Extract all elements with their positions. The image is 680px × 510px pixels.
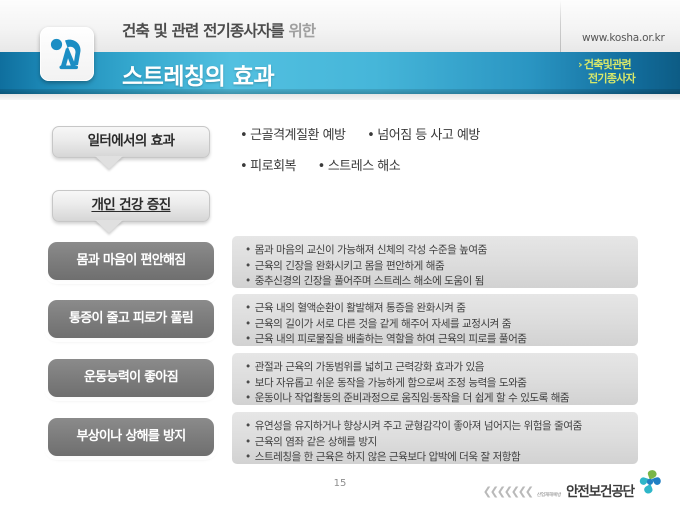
detail-line: •운동이나 작업활동의 준비과정으로 움직임·동작을 더 쉽게 할 수 있도록 … — [245, 391, 628, 407]
bullet-dot-icon: • — [367, 128, 374, 143]
top-bullet-list: •근골격계질환 예방 •넘어짐 등 사고 예방 •피로회복 •스트레스 해소 — [240, 124, 640, 186]
top-bullet-item: •넘어짐 등 사고 예방 — [367, 128, 480, 143]
bullet-dot-icon: • — [245, 333, 251, 345]
detail-text: 근육 내의 혈액순환이 활발해져 통증을 완화시켜 줌 — [255, 302, 466, 314]
effect-row-detail-panel: •몸과 마음의 교신이 가능해져 신체의 각성 수준을 높여줌 •근육의 긴장을… — [232, 236, 638, 288]
effect-row-detail-panel: •근육 내의 혈액순환이 활발해져 통증을 완화시켜 줌 •근육의 길이가 서로… — [232, 294, 638, 346]
breadcrumb-line-2: 전기종사자 — [578, 72, 635, 86]
bullet-dot-icon: • — [245, 302, 251, 314]
detail-line: •근육의 긴장을 완화시키고 몸을 편안하게 해줌 — [245, 259, 628, 275]
person-stretching-icon — [40, 27, 94, 81]
bullet-dot-icon: • — [245, 420, 251, 432]
top-bullet-line: •근골격계질환 예방 •넘어짐 등 사고 예방 — [240, 124, 640, 143]
detail-line: •보다 자유롭고 쉬운 동작을 가능하게 함으로써 조정 능력을 도와줌 — [245, 376, 628, 392]
detail-line: •몸과 마음의 교신이 가능해져 신체의 각성 수준을 높여줌 — [245, 243, 628, 259]
callout-workplace-effects: 일터에서의 효과 — [52, 126, 210, 158]
bullet-dot-icon: • — [245, 451, 251, 463]
header-top-band — [0, 0, 680, 52]
top-bullet-text: 스트레스 해소 — [328, 159, 400, 174]
footer-organization-name: 안전보건공단 — [566, 484, 634, 500]
detail-text: 근육의 길이가 서로 다른 것을 같게 해주어 자세를 교정시켜 줌 — [255, 318, 511, 330]
header-subtitle-soft: 위한 — [288, 22, 315, 40]
breadcrumb-line-1: 건축및관련 — [584, 58, 631, 71]
callout-tail-pointer — [95, 220, 123, 233]
top-bullet-item: •스트레스 해소 — [318, 159, 401, 174]
detail-line: •관절과 근육의 가동범위를 넓히고 근력강화 효과가 있음 — [245, 360, 628, 376]
header-subtitle-main: 건축 및 관련 전기종사자를 — [122, 22, 284, 40]
detail-line: •근육 내의 피로물질을 배출하는 역할을 하여 근육의 피로를 풀어줌 — [245, 332, 628, 348]
slide-header: 건축 및 관련 전기종사자를 위한 스트레칭의 효과 www.kosha.or.… — [0, 0, 680, 100]
bullet-dot-icon: • — [245, 318, 251, 330]
bullet-dot-icon: • — [245, 361, 251, 373]
detail-text: 근육의 긴장을 완화시키고 몸을 편안하게 해줌 — [255, 260, 444, 272]
bullet-dot-icon: • — [245, 275, 251, 287]
effect-row-label: 운동능력이 좋아짐 — [48, 359, 214, 397]
detail-line: •유연성을 유지하거나 향상시켜 주고 균형감각이 좋아져 넘어지는 위험을 줄… — [245, 419, 628, 435]
chevron-right-icon: › — [578, 58, 582, 71]
header-subtitle: 건축 및 관련 전기종사자를 위한 — [122, 19, 315, 41]
callout-tail-pointer — [95, 156, 123, 169]
header-website-url: www.kosha.or.kr — [582, 32, 665, 44]
detail-line: •근육의 길이가 서로 다른 것을 같게 해주어 자세를 교정시켜 줌 — [245, 317, 628, 333]
bullet-dot-icon: • — [318, 159, 325, 174]
effect-row-label: 부상이나 상해를 방지 — [48, 418, 214, 456]
top-bullet-line: •피로회복 •스트레스 해소 — [240, 155, 640, 174]
top-bullet-text: 넘어짐 등 사고 예방 — [377, 128, 480, 143]
footer-brand-lockup: ❮❮❮❮❮❮❮ 산업재해예방 안전보건공단 — [483, 470, 662, 500]
footer-kicker-text: 산업재해예방 — [537, 493, 561, 498]
detail-text: 근육 내의 피로물질을 배출하는 역할을 하여 근육의 피로를 풀어줌 — [255, 333, 527, 345]
detail-text: 유연성을 유지하거나 향상시켜 주고 균형감각이 좋아져 넘어지는 위험을 줄여… — [255, 420, 582, 432]
breadcrumb: ›건축및관련 전기종사자 — [578, 58, 635, 86]
effect-row-detail-panel: •유연성을 유지하거나 향상시켜 주고 균형감각이 좋아져 넘어지는 위험을 줄… — [232, 412, 638, 464]
bullet-dot-icon: • — [240, 128, 247, 143]
detail-text: 중추신경의 긴장을 풀어주며 스트레스 해소에 도움이 됨 — [255, 275, 484, 287]
kosha-pinwheel-logo-icon — [638, 469, 662, 499]
bullet-dot-icon: • — [245, 436, 251, 448]
bullet-dot-icon: • — [245, 377, 251, 389]
detail-text: 보다 자유롭고 쉬운 동작을 가능하게 함으로써 조정 능력을 도와줌 — [255, 377, 527, 389]
detail-line: •중추신경의 긴장을 풀어주며 스트레스 해소에 도움이 됨 — [245, 274, 628, 290]
bullet-dot-icon: • — [245, 244, 251, 256]
bullet-dot-icon: • — [240, 159, 247, 174]
detail-text: 몸과 마음의 교신이 가능해져 신체의 각성 수준을 높여줌 — [255, 244, 487, 256]
callout-personal-health: 개인 건강 증진 — [52, 190, 210, 222]
detail-text: 관절과 근육의 가동범위를 넓히고 근력강화 효과가 있음 — [255, 361, 484, 373]
callout-health-label: 개인 건강 증진 — [53, 191, 209, 220]
top-bullet-text: 근골격계질환 예방 — [250, 128, 345, 143]
top-bullet-text: 피로회복 — [250, 159, 296, 174]
bullet-dot-icon: • — [245, 260, 251, 272]
effect-row-label: 몸과 마음이 편안해짐 — [48, 242, 214, 280]
detail-text: 스트레칭을 한 근육은 하지 않은 근육보다 압박에 더욱 잘 저항함 — [255, 451, 520, 463]
chevrons-left-icon: ❮❮❮❮❮❮❮ — [483, 485, 532, 498]
detail-text: 근육의 염좌 같은 상해를 방지 — [255, 436, 377, 448]
effect-row-label: 통증이 줄고 피로가 풀림 — [48, 300, 214, 338]
footer-wordmark: 산업재해예방 안전보건공단 — [537, 481, 634, 500]
page-title: 스트레칭의 효과 — [122, 57, 274, 91]
top-bullet-item: •피로회복 — [240, 159, 296, 174]
detail-line: •스트레칭을 한 근육은 하지 않은 근육보다 압박에 더욱 잘 저항함 — [245, 450, 628, 466]
detail-line: •근육의 염좌 같은 상해를 방지 — [245, 435, 628, 451]
header-bottom-strip — [0, 94, 680, 100]
header-vertical-divider — [560, 0, 561, 52]
detail-line: •근육 내의 혈액순환이 활발해져 통증을 완화시켜 줌 — [245, 301, 628, 317]
detail-text: 운동이나 작업활동의 준비과정으로 움직임·동작을 더 쉽게 할 수 있도록 해… — [255, 392, 569, 404]
top-bullet-item: •근골격계질환 예방 — [240, 128, 345, 143]
bullet-dot-icon: • — [245, 392, 251, 404]
effect-row-detail-panel: •관절과 근육의 가동범위를 넓히고 근력강화 효과가 있음 •보다 자유롭고 … — [232, 353, 638, 405]
callout-workplace-label: 일터에서의 효과 — [53, 127, 209, 156]
